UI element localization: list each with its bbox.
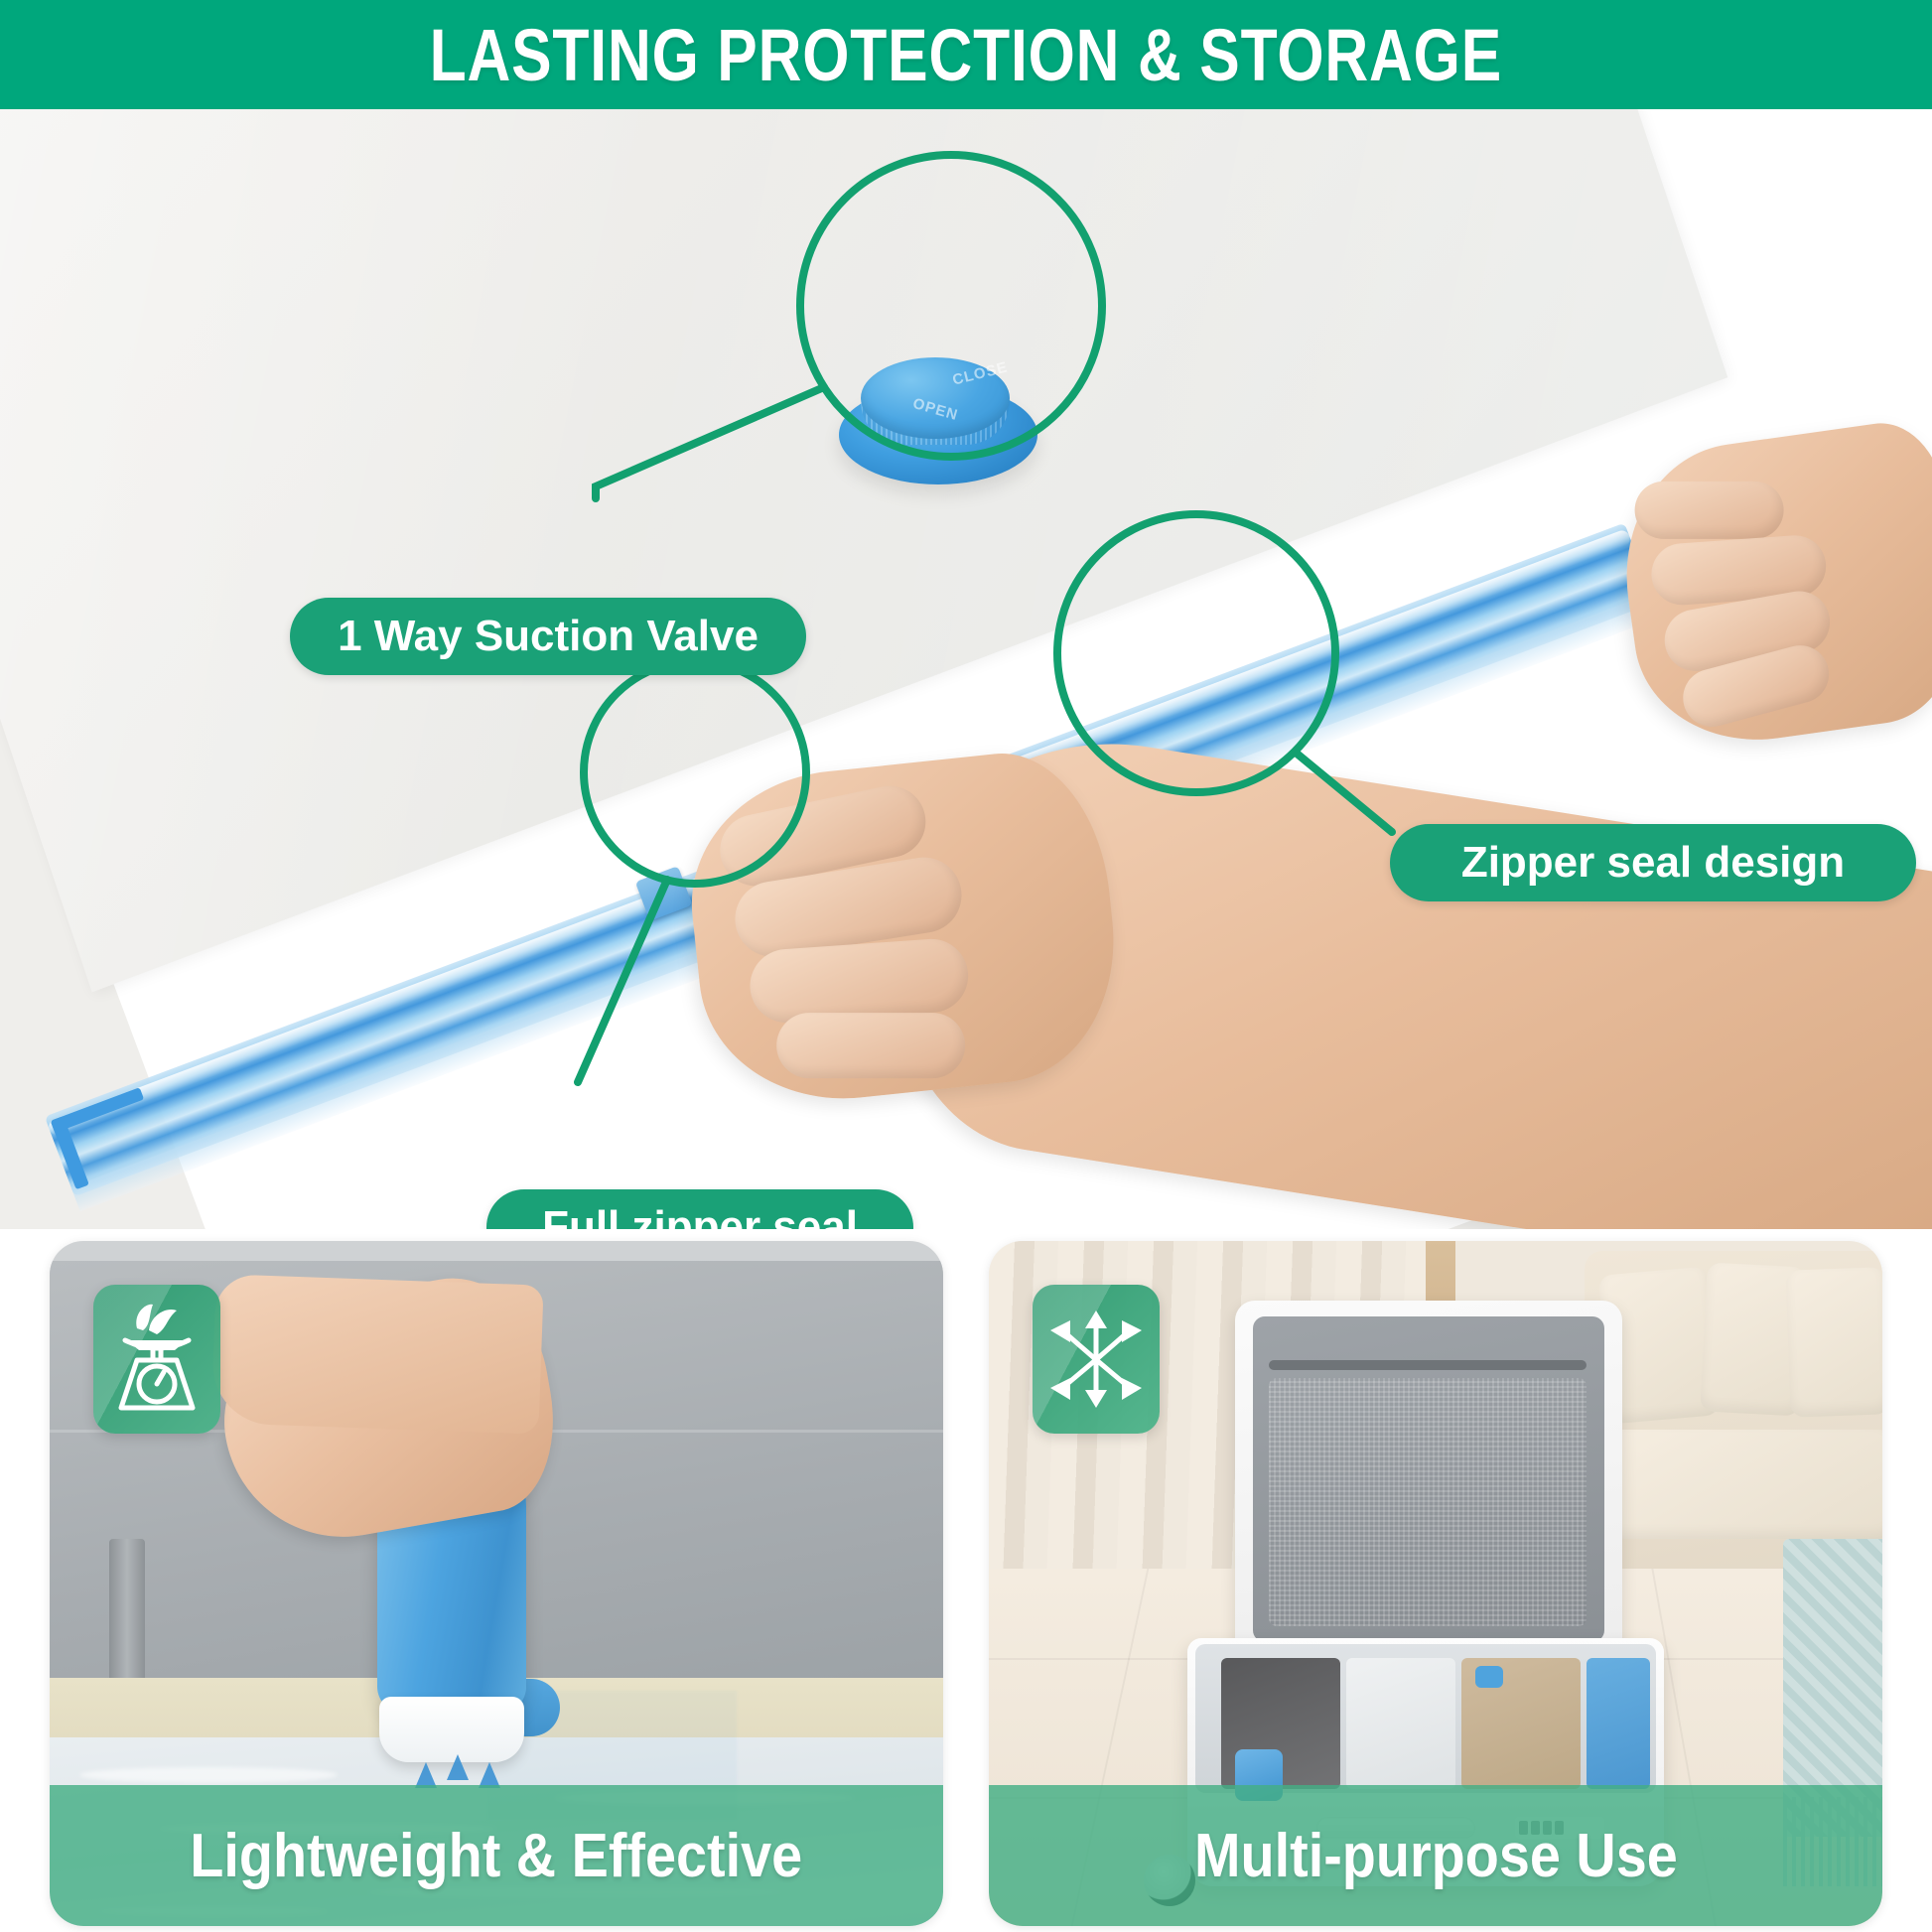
vacuum-bag-blue-trim <box>1587 1658 1650 1789</box>
valve-top: CLOSE OPEN <box>861 357 1010 439</box>
callout-label-full-zipper-seal[interactable]: Full zipper seal <box>486 1189 913 1229</box>
suitcase-lid-lining <box>1253 1316 1604 1642</box>
suction-arrow-icon <box>447 1754 469 1780</box>
panel-caption-lightweight: Lightweight & Effective <box>50 1785 943 1926</box>
product-infographic: LASTING PROTECTION & STORAGE <box>0 0 1932 1932</box>
panel-caption-multi-purpose: Multi-purpose Use <box>989 1785 1882 1926</box>
pump-base <box>379 1697 524 1762</box>
forearm <box>211 1274 544 1434</box>
callout-label-text: Zipper seal design <box>1461 838 1845 888</box>
cushion <box>1785 1267 1882 1417</box>
sofa-seat <box>1594 1430 1882 1539</box>
callout-label-text: Full zipper seal <box>542 1202 858 1229</box>
valve-open-text: OPEN <box>911 395 960 424</box>
bag-crease <box>79 1767 338 1783</box>
callout-label-suction-valve[interactable]: 1 Way Suction Valve <box>290 598 806 675</box>
thumb <box>776 1013 965 1078</box>
vacuum-bag-white-clothes <box>1346 1658 1455 1789</box>
panel-multi-purpose-use[interactable]: Multi-purpose Use <box>989 1241 1882 1926</box>
valve-close-text: CLOSE <box>951 358 1010 388</box>
caption-text: Lightweight & Effective <box>191 1821 803 1891</box>
finger <box>1635 482 1784 539</box>
panel-lightweight-effective[interactable]: Lightweight & Effective <box>50 1241 943 1926</box>
caption-text: Multi-purpose Use <box>1194 1821 1678 1891</box>
suitcase-interior <box>1195 1644 1656 1793</box>
lid-zipper <box>1269 1360 1587 1370</box>
one-way-suction-valve-cap: CLOSE OPEN <box>839 357 1037 486</box>
header-banner: LASTING PROTECTION & STORAGE <box>0 0 1932 109</box>
hero-photo: CLOSE OPEN 1 Way Suction Valve Zipper se… <box>0 109 1932 1229</box>
suitcase-lid <box>1235 1301 1622 1658</box>
badge-multi-purpose <box>1033 1285 1160 1434</box>
cream-sofa <box>1585 1251 1882 1579</box>
lid-mesh-pocket <box>1269 1378 1587 1626</box>
page-title: LASTING PROTECTION & STORAGE <box>430 13 1502 97</box>
badge-lightweight <box>93 1285 220 1434</box>
bag-valve-cap <box>1475 1666 1503 1688</box>
vacuum-bag-tan-clothes <box>1461 1658 1581 1789</box>
badge-sheen <box>93 1285 220 1434</box>
feature-panels: Lightweight & Effective <box>0 1241 1932 1932</box>
furniture-leg <box>109 1539 145 1688</box>
callout-label-text: 1 Way Suction Valve <box>338 612 759 661</box>
badge-sheen <box>1033 1285 1160 1434</box>
callout-label-zipper-seal-design[interactable]: Zipper seal design <box>1390 824 1916 901</box>
